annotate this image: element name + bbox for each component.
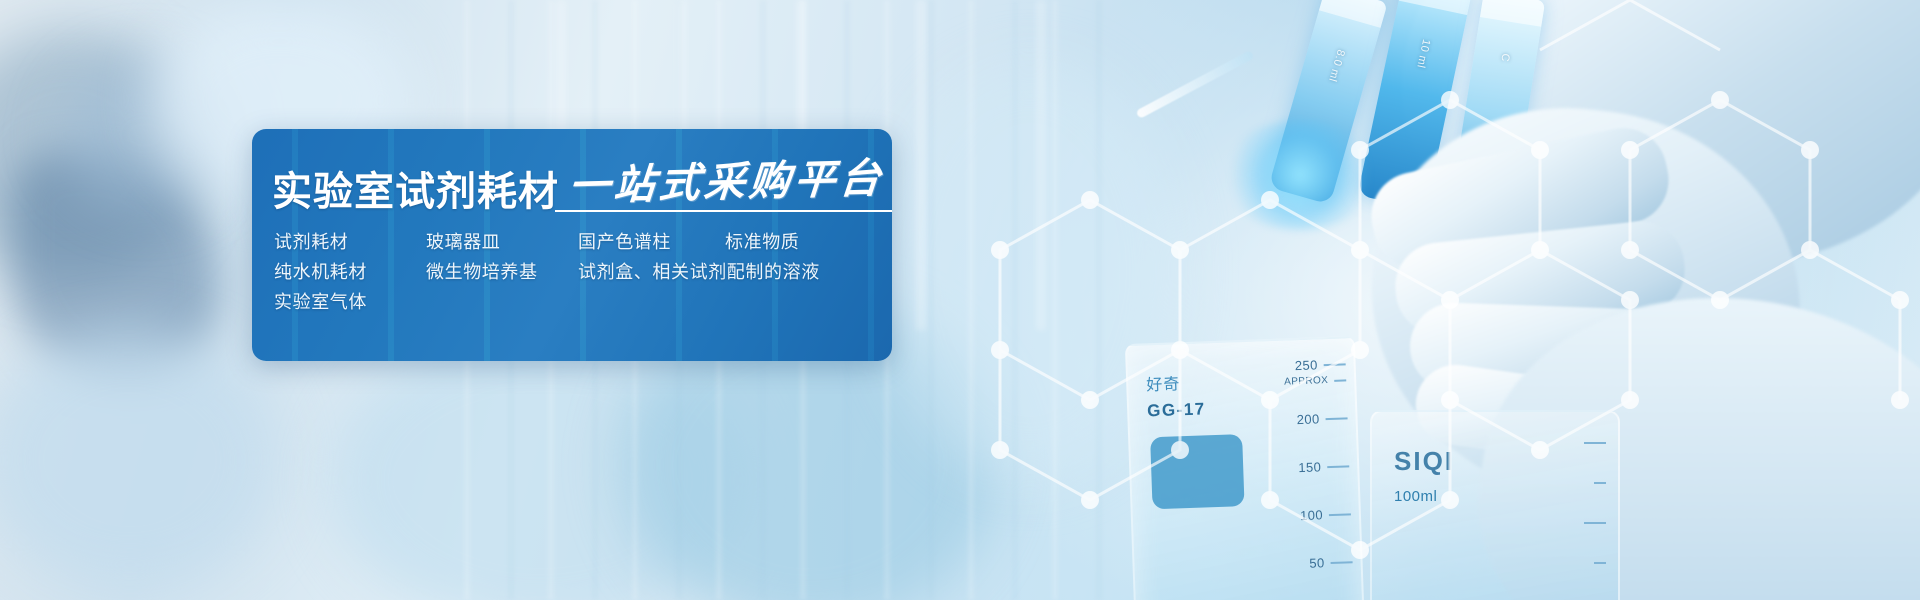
category-item[interactable]: 微生物培养基 (426, 264, 578, 282)
graduation-mark: 150 (1298, 458, 1349, 475)
beaker-brand-label: SIQI (1394, 446, 1454, 477)
tube-glow (1220, 120, 1380, 230)
category-item[interactable]: 实验室气体 (274, 294, 426, 312)
tube-label: 10 ml (1414, 38, 1432, 69)
tube-label: 8.0 ml (1326, 48, 1347, 83)
beaker-brand-label: 好奇 (1146, 370, 1181, 395)
category-item[interactable]: 试剂盒、相关试剂配制的溶液 (578, 264, 820, 282)
graduated-beaker-secondary: SIQI 100ml (1370, 410, 1620, 600)
graduation-mark: 250 (1295, 356, 1346, 373)
category-item[interactable]: 玻璃器皿 (426, 234, 578, 252)
tube-cap (1399, 0, 1473, 15)
graduation-approx: APPROX (1284, 374, 1346, 387)
category-row: 试剂耗材 玻璃器皿 国产色谱柱 标准物质 (274, 234, 892, 252)
graduation-mark: 50 (1309, 554, 1353, 571)
tube-cap (1319, 0, 1388, 28)
content-card: 实验室试剂耗材 一站式采购平台 试剂耗材 玻璃器皿 国产色谱柱 标准物质 纯水机… (252, 129, 892, 361)
graduation-mark (1584, 442, 1606, 444)
graduation-mark (1584, 522, 1606, 524)
tube-cap (1480, 0, 1545, 27)
title-main-text: 实验室试剂耗材 (272, 172, 559, 212)
graduation-mark (1594, 562, 1606, 564)
tube-label: C (1498, 53, 1511, 63)
beaker-graduation-scale: 250 APPROX 200 150 100 50 (1225, 352, 1354, 600)
category-row: 纯水机耗材 微生物培养基 试剂盒、相关试剂配制的溶液 (274, 264, 892, 282)
graduated-beaker: 好奇 GG-17 100ml 250 APPROX 200 150 100 50 (1125, 336, 1365, 600)
lab-supplies-banner: 8.0 ml 10 ml C 好奇 GG-17 100ml 250 APPROX… (0, 0, 1920, 600)
beaker-graduation-scale (1536, 432, 1606, 600)
banner-title: 实验室试剂耗材 一站式采购平台 (252, 129, 892, 212)
category-list: 试剂耗材 玻璃器皿 国产色谱柱 标准物质 纯水机耗材 微生物培养基 试剂盒、相关… (274, 234, 892, 312)
glass-rod (1135, 50, 1254, 119)
graduation-mark: 200 (1296, 410, 1347, 427)
category-row: 实验室气体 (274, 294, 892, 312)
category-item[interactable]: 试剂耗材 (274, 234, 426, 252)
graduation-mark: 100 (1300, 506, 1351, 523)
beaker-model-label: GG-17 (1147, 399, 1206, 421)
category-item[interactable]: 标准物质 (725, 234, 799, 252)
title-underline (555, 210, 892, 212)
graduation-mark (1594, 482, 1606, 484)
title-script-text: 一站式采购平台 (567, 158, 886, 207)
title-script-wrap: 一站式采购平台 (569, 162, 884, 212)
beaker-volume-label: 100ml (1394, 488, 1437, 505)
category-item[interactable]: 纯水机耗材 (274, 264, 426, 282)
category-item[interactable]: 国产色谱柱 (578, 234, 671, 252)
